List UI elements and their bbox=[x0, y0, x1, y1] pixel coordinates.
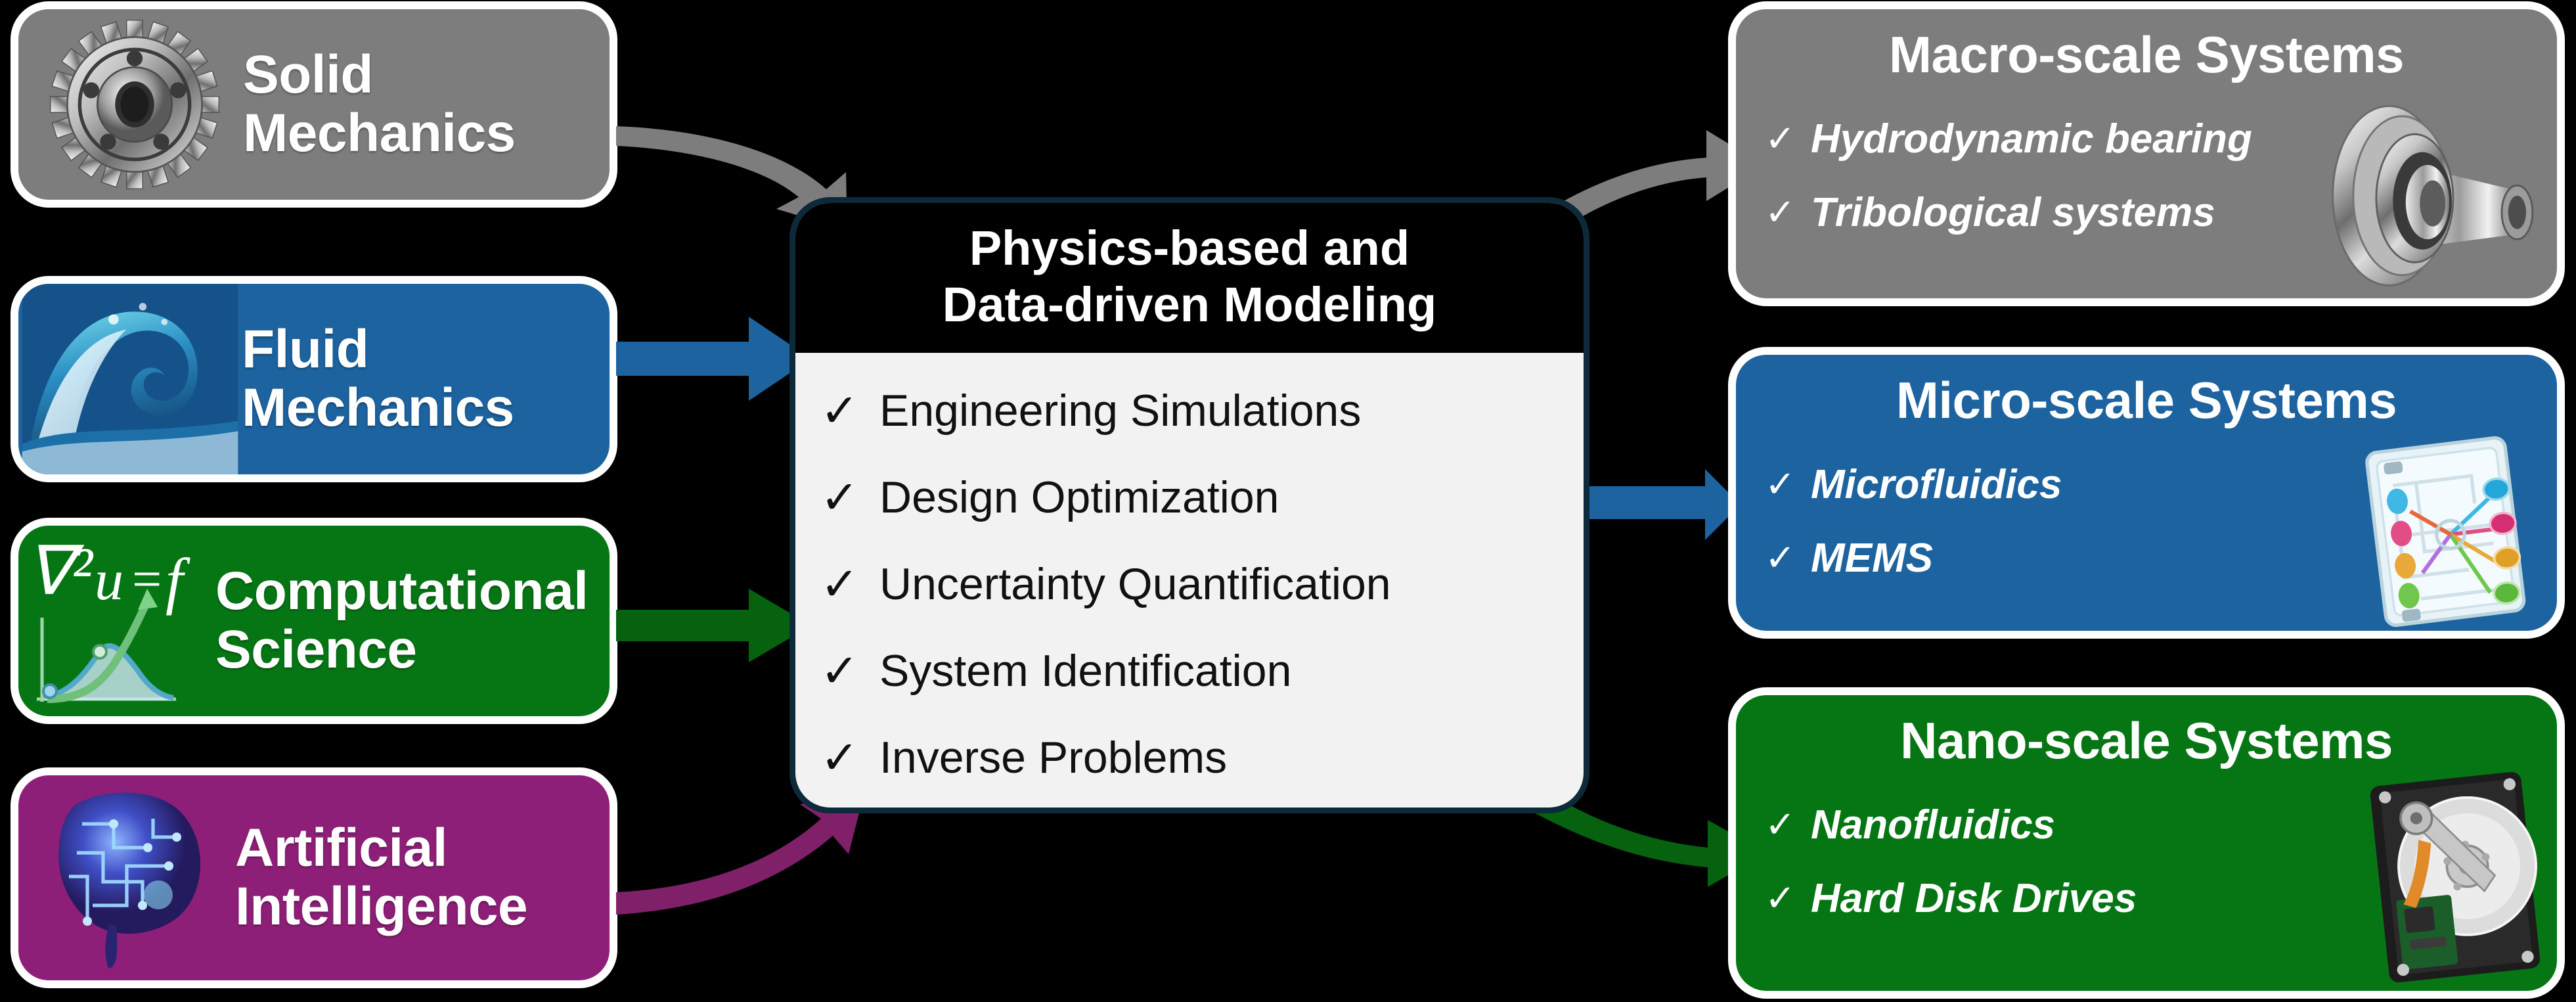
gear-icon bbox=[26, 16, 243, 193]
check-icon: ✓ bbox=[1765, 806, 1791, 843]
svg-text:u: u bbox=[95, 549, 123, 612]
target-card-heading: Macro-scale Systems bbox=[1736, 9, 2557, 85]
ocean-wave-icon bbox=[18, 284, 242, 474]
target-card-heading: Micro-scale Systems bbox=[1736, 355, 2557, 430]
check-icon: ✓ bbox=[820, 388, 851, 434]
check-icon: ✓ bbox=[1765, 466, 1791, 503]
target-card-macro-scale-systems[interactable]: Macro-scale Systems ✓ Hydrodynamic beari… bbox=[1736, 9, 2557, 298]
source-card-computational-science[interactable]: ∇² u = f ComputationalScience bbox=[18, 526, 610, 716]
equation-chart-icon: ∇² u = f bbox=[18, 526, 215, 716]
target-item-label: Microfluidics bbox=[1811, 461, 2062, 508]
target-card-micro-scale-systems[interactable]: Micro-scale Systems ✓ Microfluidics ✓ ME… bbox=[1736, 355, 2557, 631]
list-item: ✓ Design Optimization bbox=[820, 454, 1584, 541]
source-card-title: FluidMechanics bbox=[242, 321, 514, 437]
check-icon: ✓ bbox=[820, 474, 851, 520]
check-icon: ✓ bbox=[1765, 880, 1791, 917]
check-icon: ✓ bbox=[1765, 539, 1791, 576]
feature-label: Uncertainty Quantification bbox=[879, 558, 1391, 610]
list-item: ✓ Inverse Problems bbox=[820, 714, 1584, 801]
list-item: ✓ Uncertainty Quantification bbox=[820, 541, 1584, 627]
target-item-label: Hard Disk Drives bbox=[1811, 875, 2137, 922]
center-feature-list: ✓ Engineering Simulations ✓ Design Optim… bbox=[795, 353, 1584, 801]
feature-label: Inverse Problems bbox=[879, 732, 1227, 783]
check-icon: ✓ bbox=[820, 648, 851, 694]
source-card-fluid-mechanics[interactable]: FluidMechanics bbox=[18, 284, 610, 474]
source-card-solid-mechanics[interactable]: SolidMechanics bbox=[18, 9, 610, 200]
arrow-computational-to-center bbox=[616, 589, 811, 662]
arrow-center-to-micro bbox=[1571, 469, 1741, 540]
feature-label: Design Optimization bbox=[879, 472, 1279, 523]
svg-text:f: f bbox=[166, 545, 190, 616]
source-card-artificial-intelligence[interactable]: ArtificialIntelligence bbox=[18, 775, 610, 980]
check-icon: ✓ bbox=[1765, 120, 1791, 157]
check-icon: ✓ bbox=[820, 735, 851, 781]
list-item: ✓ System Identification bbox=[820, 627, 1584, 714]
center-card-title: Physics-based and Data-driven Modeling bbox=[795, 203, 1584, 353]
target-item-label: Nanofluidics bbox=[1811, 802, 2055, 848]
feature-label: Engineering Simulations bbox=[879, 385, 1361, 436]
arrow-fluid-to-center bbox=[616, 317, 811, 401]
target-item-label: Hydrodynamic bearing bbox=[1811, 116, 2252, 162]
target-card-nano-scale-systems[interactable]: Nano-scale Systems ✓ Nanofluidics ✓ Hard… bbox=[1736, 695, 2557, 991]
target-item-label: MEMS bbox=[1811, 535, 1933, 581]
microfluidic-chip-icon bbox=[2343, 432, 2557, 631]
center-card-modeling[interactable]: Physics-based and Data-driven Modeling ✓… bbox=[789, 197, 1589, 813]
feature-label: System Identification bbox=[879, 645, 1291, 696]
source-card-title: ArtificialIntelligence bbox=[235, 819, 527, 936]
source-card-title: SolidMechanics bbox=[243, 46, 516, 162]
target-card-heading: Nano-scale Systems bbox=[1736, 695, 2557, 771]
circuit-brain-icon bbox=[18, 779, 235, 976]
equation-label: ∇² bbox=[26, 534, 94, 609]
arrow-ai-to-center bbox=[616, 792, 864, 940]
source-card-title: ComputationalScience bbox=[215, 562, 588, 679]
check-icon: ✓ bbox=[1765, 194, 1791, 231]
bearing-icon bbox=[2297, 93, 2553, 294]
hard-disk-drive-icon bbox=[2347, 769, 2557, 989]
list-item: ✓ Engineering Simulations bbox=[820, 367, 1584, 454]
target-item-label: Tribological systems bbox=[1811, 189, 2215, 236]
check-icon: ✓ bbox=[820, 561, 851, 607]
diagram-canvas: SolidMechanics bbox=[0, 0, 2576, 1002]
